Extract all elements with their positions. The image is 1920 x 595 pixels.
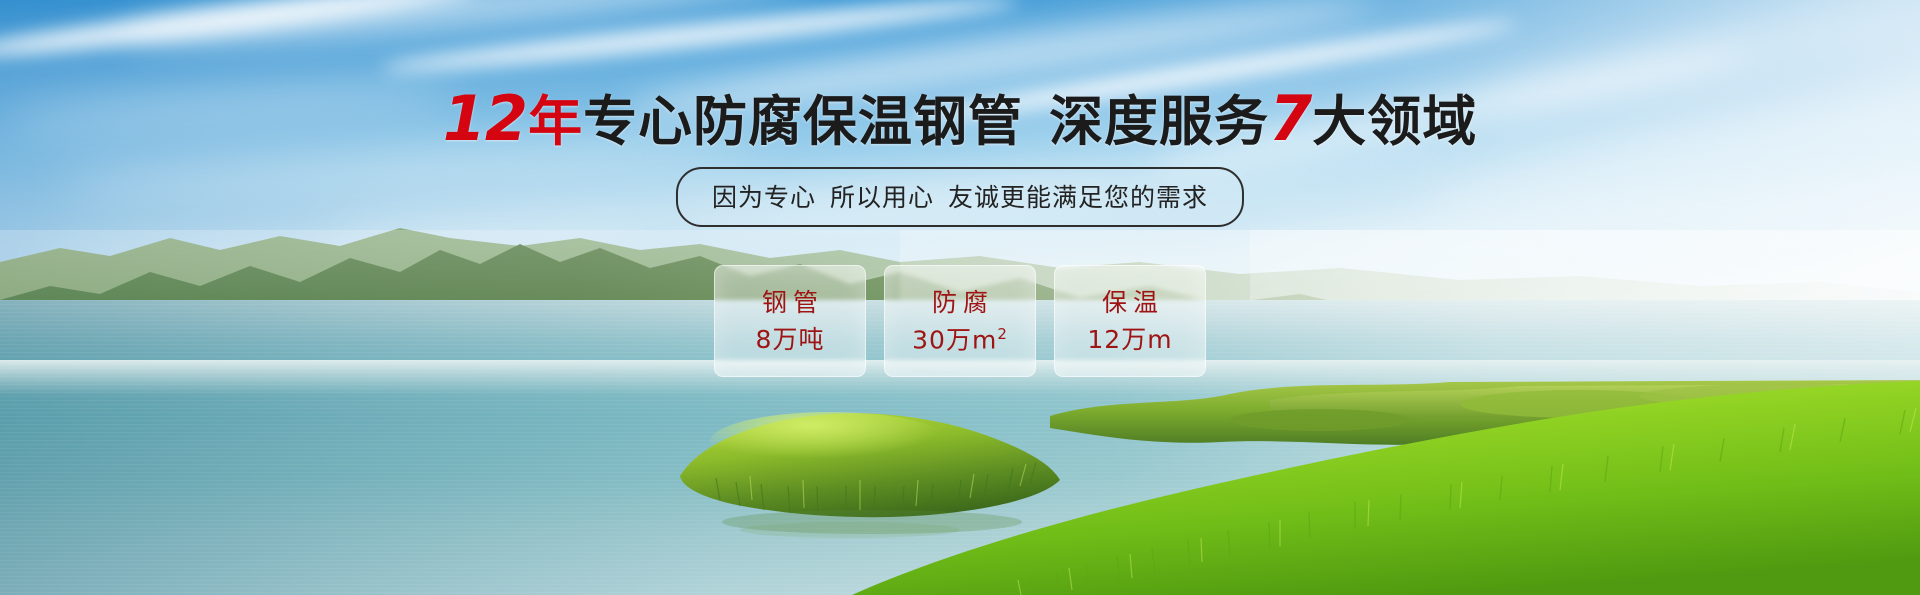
stat-card-value: 30万m2	[912, 327, 1008, 352]
slogan-pill: 因为专心所以用心友诚更能满足您的需求	[676, 167, 1244, 227]
stat-card-anticorrosion: 防腐 30万m2	[884, 265, 1036, 377]
stat-card-value-main: 12万m	[1087, 325, 1172, 354]
headline-main-text: 专心防腐保温钢管	[583, 90, 1023, 153]
slogan-part-1: 因为专心	[712, 183, 816, 212]
stat-card-value: 12万m	[1087, 327, 1172, 352]
stat-cards: 钢管 8万吨 防腐 30万m2 保温 12万m	[714, 265, 1206, 377]
stat-card-value-main: 8万吨	[756, 325, 825, 354]
stat-card-label: 防腐	[926, 290, 994, 315]
headline-fields-number: 7	[1269, 82, 1311, 155]
slogan-part-3: 友诚更能满足您的需求	[948, 183, 1208, 212]
stat-card-label: 钢管	[756, 290, 824, 315]
stat-card-insulation: 保温 12万m	[1054, 265, 1206, 377]
stat-card-steel-pipe: 钢管 8万吨	[714, 265, 866, 377]
headline-years-unit: 年	[528, 90, 583, 153]
stat-card-value: 8万吨	[756, 327, 825, 352]
stat-card-value-main: 30万m	[912, 325, 997, 354]
headline-years-number: 12	[443, 82, 527, 155]
page-title: 12年专心防腐保温钢管深度服务7大领域	[0, 88, 1920, 150]
slogan-part-2: 所以用心	[830, 183, 934, 212]
grass-island	[640, 400, 1080, 540]
hero-banner: 12年专心防腐保温钢管深度服务7大领域 因为专心所以用心友诚更能满足您的需求 钢…	[0, 0, 1920, 595]
stat-card-label: 保温	[1096, 290, 1164, 315]
headline-service-text: 深度服务	[1049, 90, 1269, 153]
headline-fields-text: 大领域	[1312, 90, 1477, 153]
stat-card-value-superscript: 2	[997, 325, 1008, 343]
